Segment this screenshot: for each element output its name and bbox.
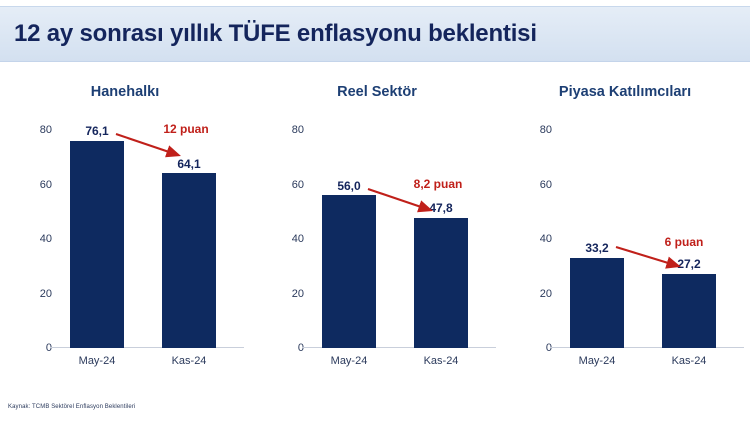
y-tick-label: 40 bbox=[40, 233, 52, 245]
y-tick-label: 60 bbox=[40, 179, 52, 191]
charts-row: Hanehalkı (%) 80 60 40 20 0 76,1 64,1 12 bbox=[0, 78, 750, 378]
y-tick-label: 40 bbox=[540, 233, 552, 245]
bar bbox=[414, 218, 468, 348]
chart-panel-piyasa-katilimcilari: Piyasa Katılımcıları (%) 80 60 40 20 0 3… bbox=[500, 78, 750, 378]
bar bbox=[70, 141, 124, 349]
bar-value-label: 33,2 bbox=[585, 241, 608, 255]
bar bbox=[162, 173, 216, 348]
chart-panel-reel-sektor: Reel Sektör (%) 80 60 40 20 0 56,0 47,8 bbox=[252, 78, 502, 378]
bar bbox=[662, 274, 716, 348]
page-title: 12 ay sonrası yıllık TÜFE enflasyonu bek… bbox=[14, 20, 537, 48]
x-tick-label: Kas-24 bbox=[172, 355, 207, 367]
x-tick-label: May-24 bbox=[79, 355, 116, 367]
plot-area: (%) 80 60 40 20 0 76,1 64,1 12 puan May-… bbox=[58, 130, 238, 348]
y-tick-label: 80 bbox=[40, 124, 52, 136]
bar-value-label: 64,1 bbox=[177, 157, 200, 171]
bar-value-label: 27,2 bbox=[677, 257, 700, 271]
chart-panel-hanehalki: Hanehalkı (%) 80 60 40 20 0 76,1 64,1 12 bbox=[0, 78, 250, 378]
y-tick-label: 0 bbox=[298, 342, 304, 354]
y-tick-label: 80 bbox=[292, 124, 304, 136]
bar-value-label: 56,0 bbox=[337, 179, 360, 193]
y-tick-label: 20 bbox=[40, 288, 52, 300]
y-tick-label: 60 bbox=[292, 179, 304, 191]
y-tick-label: 0 bbox=[546, 342, 552, 354]
y-tick-label: 80 bbox=[540, 124, 552, 136]
bar-value-label: 76,1 bbox=[85, 124, 108, 138]
bar-value-label: 47,8 bbox=[429, 201, 452, 215]
header-banner: 12 ay sonrası yıllık TÜFE enflasyonu bek… bbox=[0, 6, 750, 62]
chart-title: Reel Sektör bbox=[252, 84, 502, 100]
source-footnote: Kaynak: TCMB Sektörel Enflasyon Beklenti… bbox=[8, 404, 135, 410]
chart-title: Hanehalkı bbox=[0, 84, 250, 100]
delta-annotation: 6 puan bbox=[665, 235, 704, 249]
delta-annotation: 8,2 puan bbox=[414, 177, 463, 191]
plot-area: (%) 80 60 40 20 0 33,2 27,2 6 puan May-2… bbox=[558, 130, 738, 348]
y-tick-label: 20 bbox=[540, 288, 552, 300]
chart-title: Piyasa Katılımcıları bbox=[500, 84, 750, 100]
x-tick-label: Kas-24 bbox=[424, 355, 459, 367]
y-tick-label: 40 bbox=[292, 233, 304, 245]
plot-area: (%) 80 60 40 20 0 56,0 47,8 8,2 puan May… bbox=[310, 130, 490, 348]
delta-annotation: 12 puan bbox=[163, 122, 208, 136]
bar bbox=[322, 195, 376, 348]
x-tick-label: May-24 bbox=[579, 355, 616, 367]
y-tick-label: 20 bbox=[292, 288, 304, 300]
bar bbox=[570, 258, 624, 349]
y-tick-label: 0 bbox=[46, 342, 52, 354]
x-tick-label: May-24 bbox=[331, 355, 368, 367]
x-tick-label: Kas-24 bbox=[672, 355, 707, 367]
y-tick-label: 60 bbox=[540, 179, 552, 191]
